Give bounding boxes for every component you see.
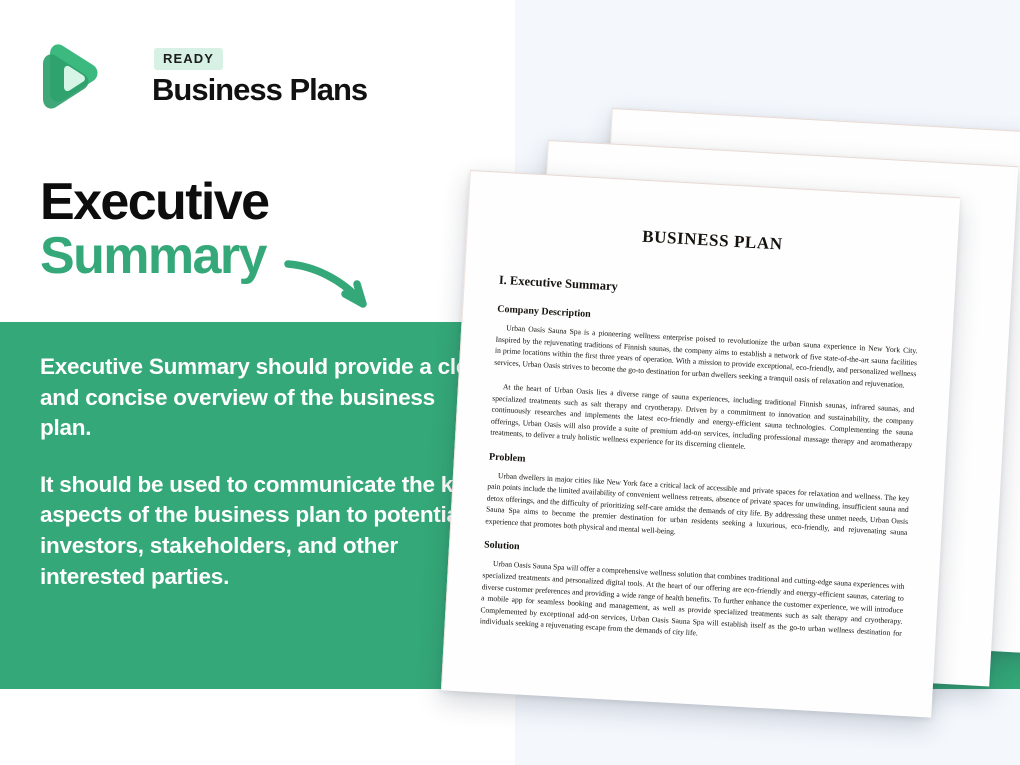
document-sheet-front[interactable]: BUSINESS PLAN I. Executive Summary Compa…: [441, 170, 960, 718]
slide-canvas: READY Business Plans Executive Summary E…: [0, 0, 1020, 765]
document-section-heading: I. Executive Summary: [498, 273, 920, 312]
document-paragraph: At the heart of Urban Oasis lies a diver…: [490, 381, 915, 462]
document-title: BUSINESS PLAN: [501, 219, 923, 263]
document-paragraph: Urban Oasis Sauna Spa will offer a compr…: [480, 558, 905, 651]
business-plan-document: BUSINESS PLAN I. Executive Summary Compa…: [442, 171, 960, 718]
document-paper-stack[interactable]: BUSINESS PLAN I. Executive Summary Compa…: [0, 0, 1020, 765]
